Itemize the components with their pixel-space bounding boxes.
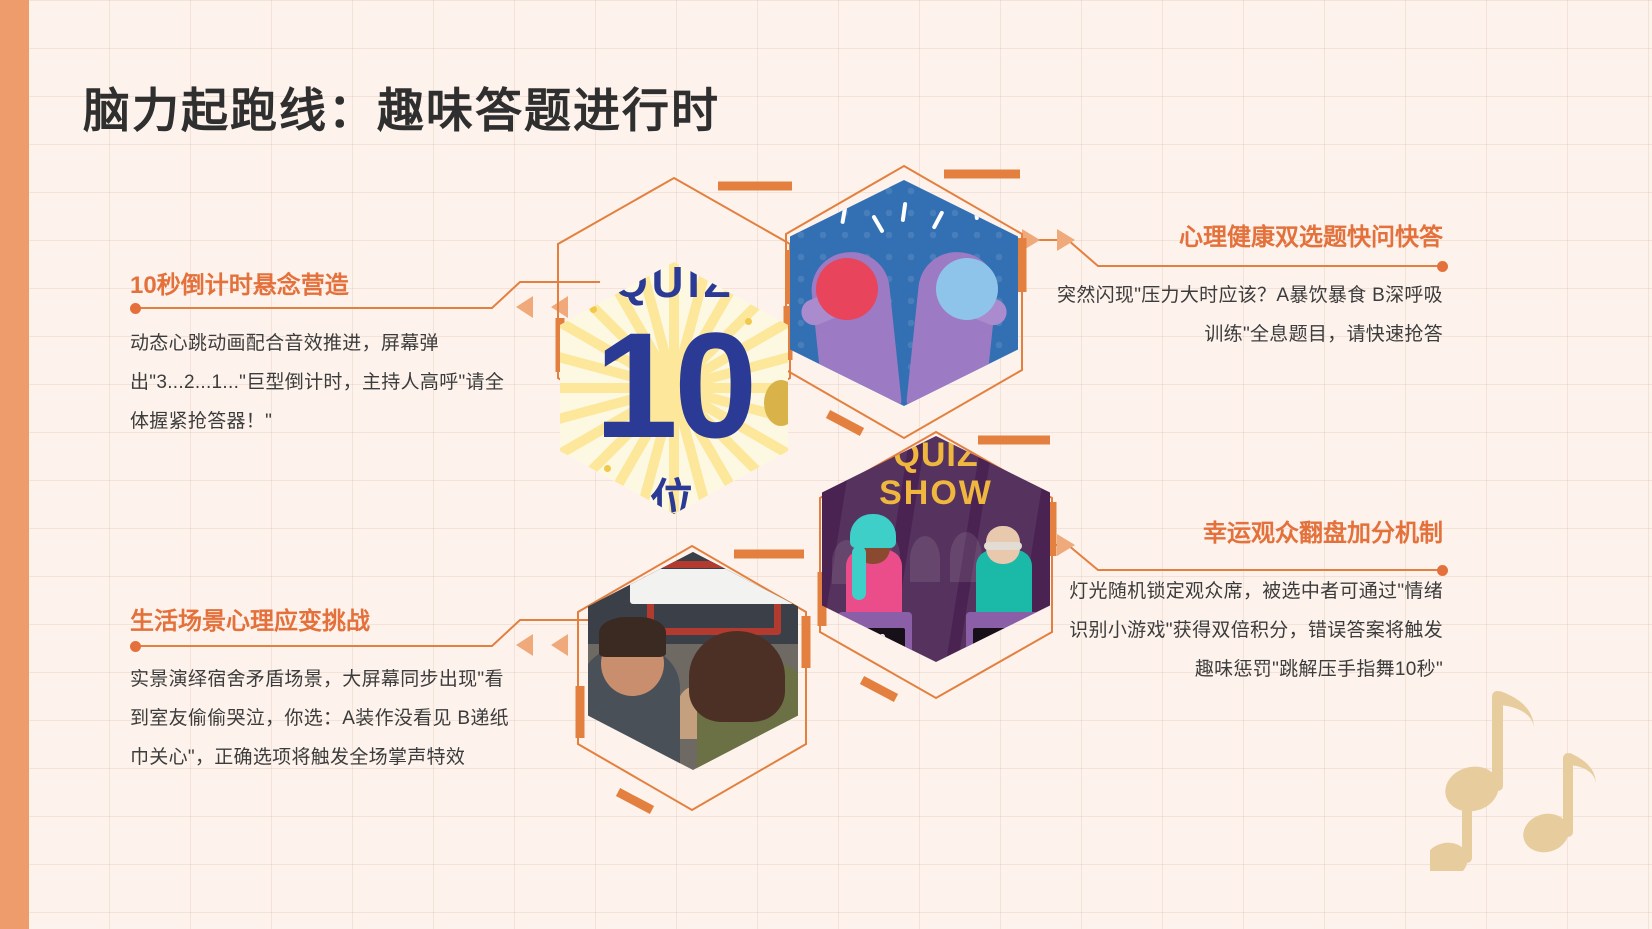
connector-dot-1 bbox=[130, 303, 141, 314]
feature-heading: 心理健康双选题快问快答 bbox=[1053, 224, 1443, 253]
quiz-title-line1: QUIZ bbox=[822, 438, 1050, 474]
music-notes-icon bbox=[1430, 681, 1600, 871]
connector-dot-3 bbox=[1437, 261, 1448, 272]
feature-heading: 幸运观众翻盘加分机制 bbox=[1053, 520, 1443, 549]
feature-body: 灯光随机锁定观众席，被选中者可通过"情绪识别小游戏"获得双倍积分，错误答案将触发… bbox=[1053, 573, 1443, 690]
feature-heading: 生活场景心理应变挑战 bbox=[130, 608, 515, 637]
dorm-photo bbox=[588, 552, 798, 770]
slide-canvas: 脑力起跑线：趣味答题进行时 bbox=[0, 0, 1652, 929]
hexagon-dorm-scene-photo bbox=[588, 552, 798, 770]
page-title: 脑力起跑线：趣味答题进行时 bbox=[83, 72, 720, 141]
left-accent-bar bbox=[0, 0, 29, 929]
hexagon-hands-choice-illustration bbox=[790, 180, 1018, 406]
countdown-number: 10 bbox=[560, 310, 788, 460]
hexagon-quiz-show-illustration: QUIZ SHOW 10 bbox=[822, 436, 1050, 662]
countdown-caption-bottom: 位 bbox=[560, 464, 788, 514]
ball-option-a bbox=[816, 258, 878, 320]
connector-dot-2 bbox=[130, 641, 141, 652]
quiz-title-line2: SHOW bbox=[822, 474, 1050, 513]
feature-heading: 10秒倒计时悬念营造 bbox=[130, 272, 515, 301]
feature-body: 动态心跳动画配合音效推进，屏幕弹出"3...2...1..."巨型倒计时，主持人… bbox=[130, 325, 515, 442]
feature-block-scenario: 生活场景心理应变挑战 实景演绎宿舍矛盾场景，大屏幕同步出现"看到室友偷偷哭泣，你… bbox=[130, 608, 515, 778]
feature-body: 突然闪现"压力大时应该？A暴饮暴食 B深呼吸训练"全息题目，请快速抢答 bbox=[1053, 277, 1443, 355]
feature-block-quickfire: 心理健康双选题快问快答 突然闪现"压力大时应该？A暴饮暴食 B深呼吸训练"全息题… bbox=[1053, 224, 1443, 355]
ball-option-b bbox=[936, 258, 998, 320]
score-left: 100 bbox=[845, 628, 905, 650]
score-right: 150 bbox=[973, 628, 1033, 650]
feature-body: 实景演绎宿舍矛盾场景，大屏幕同步出现"看到室友偷偷哭泣，你选：A装作没看见 B递… bbox=[130, 661, 515, 778]
feature-block-lucky-audience: 幸运观众翻盘加分机制 灯光随机锁定观众席，被选中者可通过"情绪识别小游戏"获得双… bbox=[1053, 520, 1443, 690]
connector-dot-4 bbox=[1437, 565, 1448, 576]
hexagon-countdown-illustration: QUIZ 10 位 bbox=[560, 262, 788, 514]
feature-block-countdown: 10秒倒计时悬念营造 动态心跳动画配合音效推进，屏幕弹出"3...2...1..… bbox=[130, 272, 515, 442]
